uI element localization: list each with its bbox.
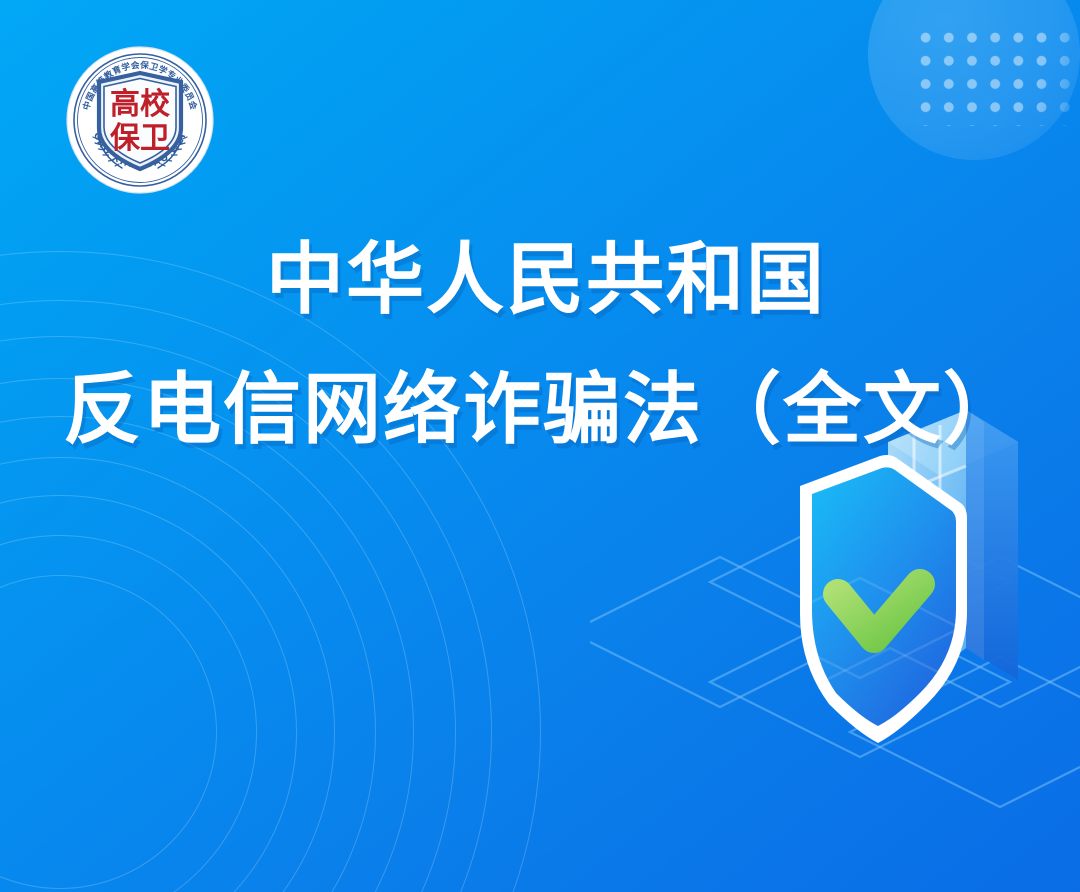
logo-shield-text-bottom: 保卫	[110, 121, 170, 156]
gao-xiao-bao-wei-logo: 中国高等教育学会保卫学专业委员会 GAO XIAO BAO WEI 高	[64, 44, 216, 196]
poster-title-block: 中华人民共和国 反电信网络诈骗法（全文）	[0, 232, 1080, 458]
dot-grid-decoration	[914, 26, 1080, 126]
logo-shield-text-top: 高校	[110, 87, 170, 122]
title-line-2: 反电信网络诈骗法（全文）	[0, 362, 1080, 458]
poster-canvas: 中国高等教育学会保卫学专业委员会 GAO XIAO BAO WEI 高	[0, 0, 1080, 892]
title-line-1: 中华人民共和国	[0, 232, 1080, 328]
